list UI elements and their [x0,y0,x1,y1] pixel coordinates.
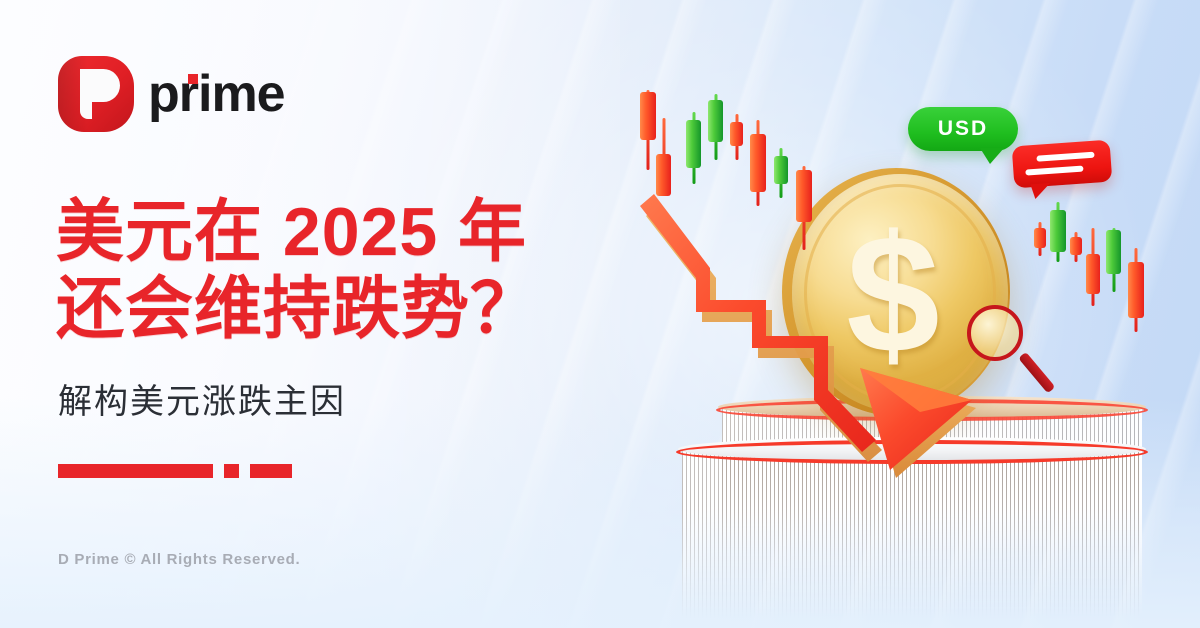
divider-segment-dot [224,464,239,478]
brand-logo[interactable]: prime [58,56,285,132]
downward-trend-arrow-icon [620,160,1040,490]
page-subtitle: 解构美元涨跌主因 [58,374,346,423]
d-prime-logo-icon [58,56,134,132]
candlestick-chart-icon [1086,228,1100,306]
divider-segment-long [58,464,213,478]
divider-segment-medium [250,464,292,478]
promo-banner: $ [0,0,1200,628]
usd-speech-bubble-icon: USD [908,107,1018,151]
candlestick-chart-icon [1070,232,1082,262]
copyright-text: D Prime © All Rights Reserved. [58,551,300,568]
candlestick-chart-icon [1128,248,1144,332]
red-speech-bubble-icon [1012,140,1113,189]
candlestick-chart-icon [730,114,743,160]
candlestick-chart-icon [708,94,723,160]
candlestick-chart-icon [1106,228,1121,292]
bubble-line-2 [1025,166,1083,176]
usd-bubble-label: USD [938,117,988,141]
headline-line-1: 美元在 2025 年 [56,194,539,271]
logo-i-dot-icon [188,74,198,84]
headline-line-2: 还会维持跌势？ [56,271,539,348]
brand-wordmark: prime [148,68,285,120]
logo-shine [58,56,88,132]
bubble-line-1 [1036,152,1094,162]
candlestick-chart-icon [640,90,656,170]
brand-wordmark-text: prime [148,65,285,123]
page-title: 美元在 2025 年 还会维持跌势？ [56,194,539,348]
candlestick-chart-icon [1050,202,1066,262]
decorative-divider [58,464,292,478]
